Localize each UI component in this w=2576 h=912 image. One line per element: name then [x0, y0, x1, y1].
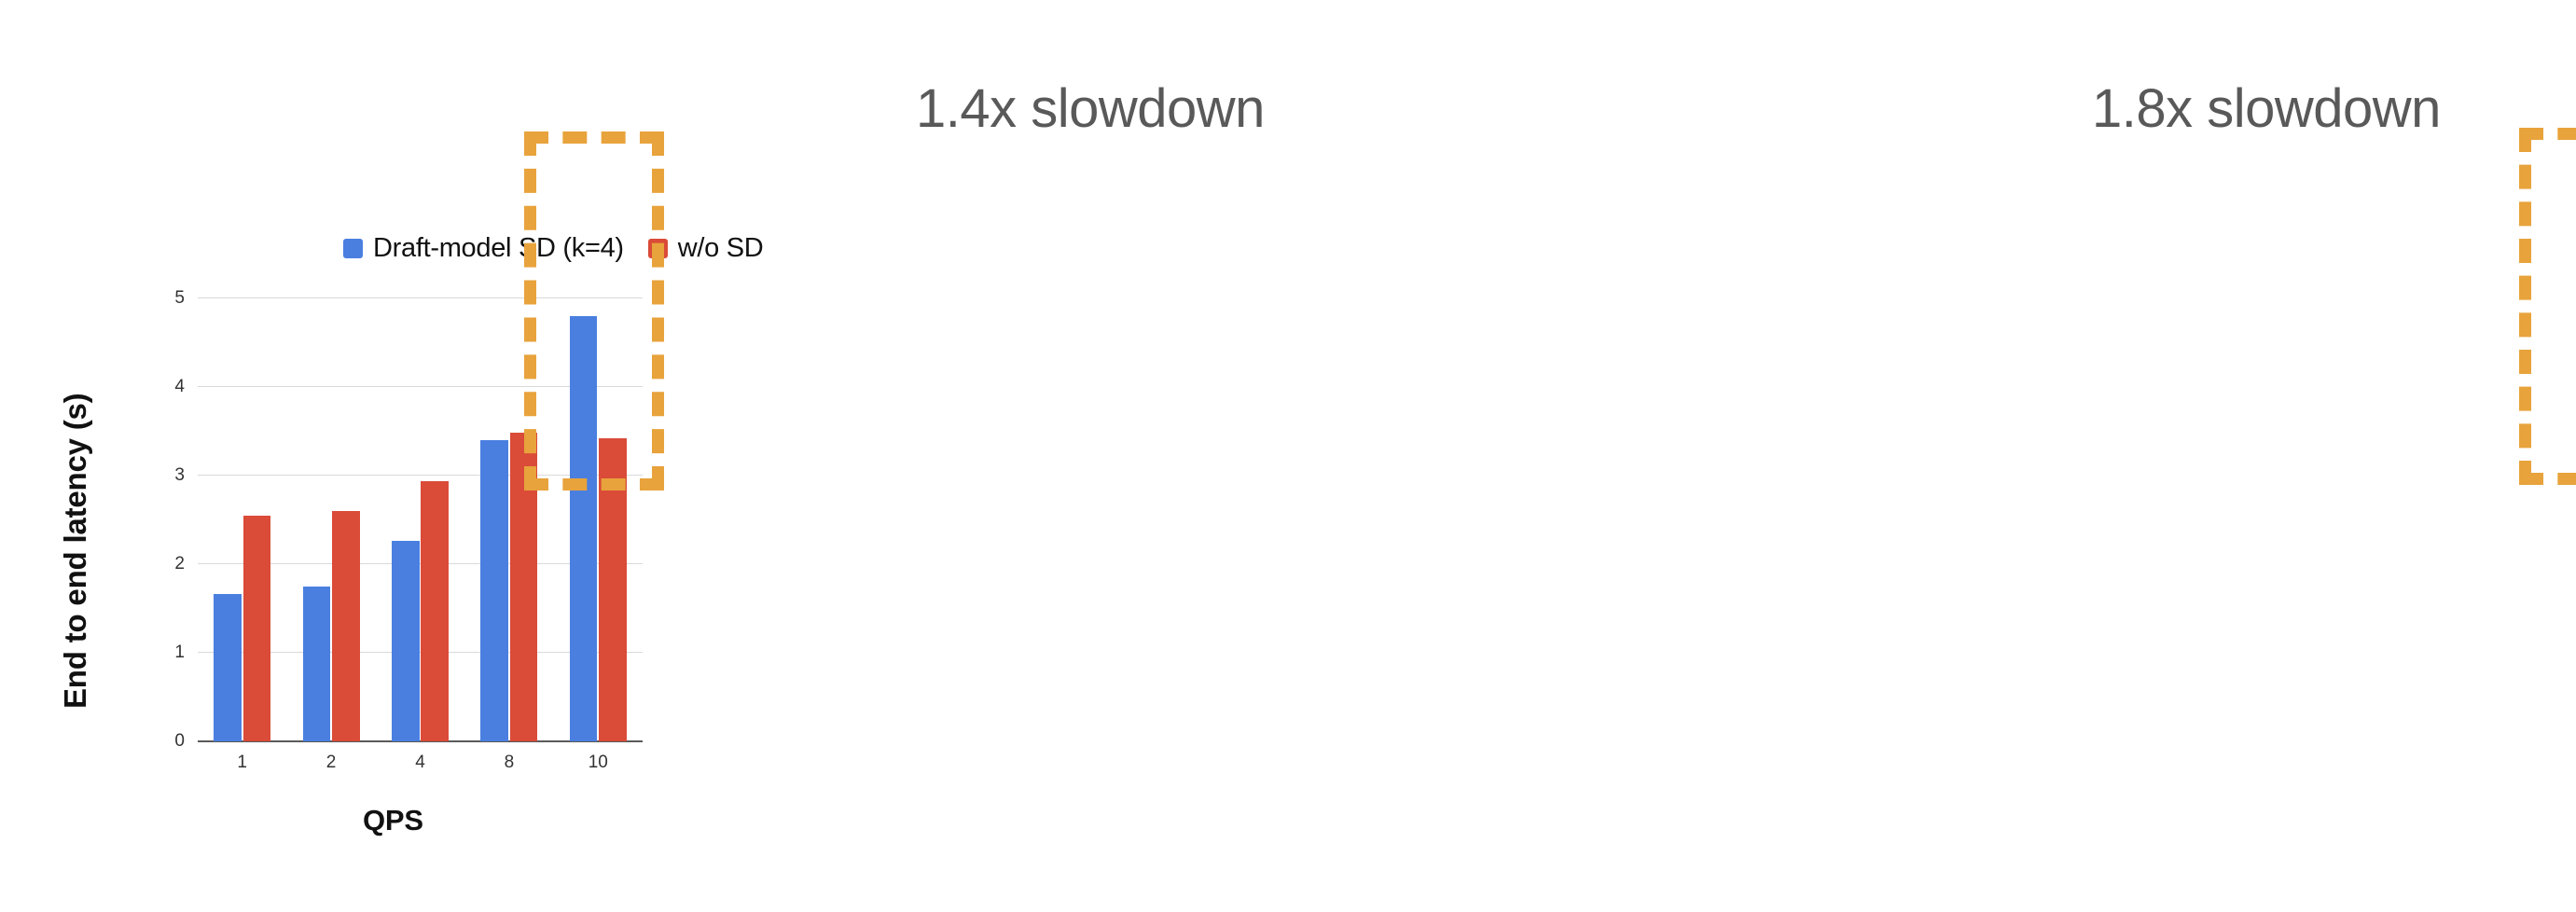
- chart-panel-right: 1.8x slowdown Ngram SD (k=4) w/o SD End …: [1288, 0, 2576, 912]
- x-axis-tick-label: 4: [376, 753, 464, 773]
- bar[interactable]: [332, 511, 360, 741]
- highlight-dashed-box-left: [524, 131, 664, 491]
- legend-item-wo-sd[interactable]: w/o SD: [648, 233, 764, 264]
- slide-canvas: 1.4x slowdown Draft-model SD (k=4) w/o S…: [0, 0, 2576, 912]
- y-axis-title-left: End to end latency (s): [58, 394, 93, 709]
- chart-panel-left: 1.4x slowdown Draft-model SD (k=4) w/o S…: [0, 0, 1288, 912]
- y-axis-tick-label: 5: [174, 288, 185, 309]
- y-axis-tick-label: 3: [174, 465, 185, 486]
- y-axis-tick-label: 2: [174, 554, 185, 574]
- bar[interactable]: [480, 440, 508, 741]
- bar[interactable]: [303, 587, 331, 741]
- x-axis-tick-label: 8: [464, 753, 553, 773]
- highlight-dashed-box-right: [2519, 128, 2576, 485]
- bar[interactable]: [243, 516, 271, 741]
- x-axis-title-left: QPS: [363, 804, 423, 837]
- bar[interactable]: [392, 541, 420, 741]
- legend-swatch-icon-blue: [343, 239, 363, 258]
- slowdown-annotation-right: 1.8x slowdown: [2092, 82, 2441, 136]
- bar-group: 4: [376, 298, 464, 741]
- bar-group: 2: [286, 298, 375, 741]
- slowdown-annotation-left: 1.4x slowdown: [916, 82, 1265, 136]
- bar[interactable]: [421, 481, 449, 741]
- bar-group: 1: [198, 298, 286, 741]
- x-axis-tick-label: 2: [286, 753, 375, 773]
- y-axis-tick-label: 4: [174, 377, 185, 397]
- x-axis-tick-label: 10: [554, 753, 643, 773]
- x-axis-tick-label: 1: [198, 753, 286, 773]
- y-axis-tick-label: 1: [174, 643, 185, 663]
- bar[interactable]: [214, 594, 242, 741]
- legend-label: w/o SD: [678, 233, 764, 264]
- y-axis-tick-label: 0: [174, 731, 185, 752]
